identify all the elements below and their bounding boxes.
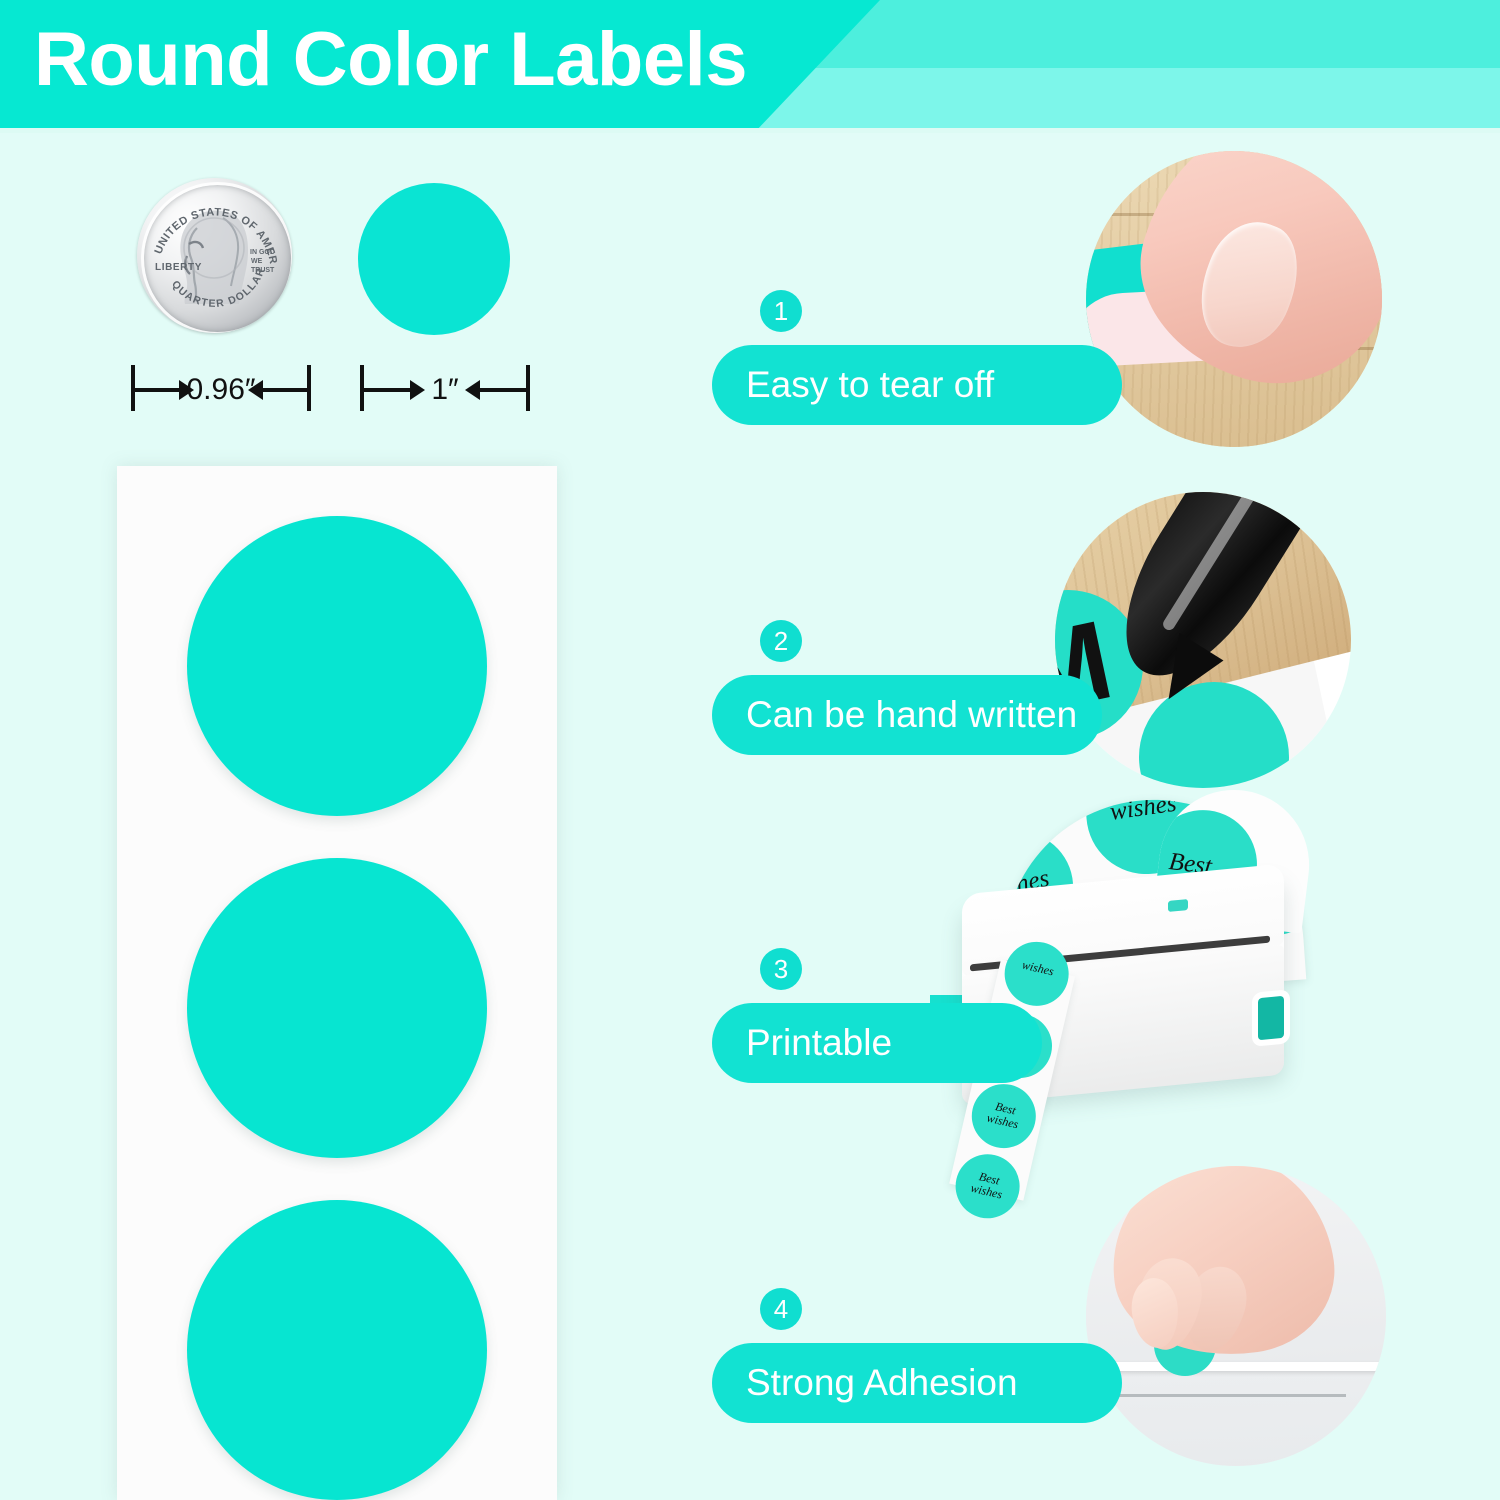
- infographic-canvas: Round Color Labels UNITED STATES OF AMER…: [0, 0, 1500, 1500]
- svg-text:LIBERTY: LIBERTY: [155, 262, 202, 273]
- feature-label-text: Easy to tear off: [712, 364, 994, 406]
- feature-label-pill: Easy to tear off: [712, 345, 1122, 425]
- feature-photo-tear-off: [1086, 151, 1382, 447]
- feature-photo-hand-written: M: [1055, 492, 1351, 788]
- surface-edge-shadow: [1086, 1394, 1346, 1397]
- page-title: Round Color Labels: [34, 10, 747, 110]
- surface-edge: [1086, 1362, 1386, 1371]
- feature-label-text: Printable: [712, 1022, 892, 1064]
- svg-text:IN GOD: IN GOD: [250, 249, 275, 256]
- sheet-label-dot: [187, 516, 487, 816]
- header-divider: [0, 128, 1500, 133]
- label-size-swatch: [358, 183, 510, 335]
- sheet-label-dot: [187, 858, 487, 1158]
- feature-number-badge: 1: [760, 290, 802, 332]
- header-banner: Round Color Labels: [0, 0, 1500, 132]
- us-quarter-coin: UNITED STATES OF AMERICA QUARTER DOLLAR …: [137, 178, 292, 333]
- feature-label-pill: Can be hand written: [712, 675, 1102, 755]
- feature-label-text: Strong Adhesion: [712, 1362, 1018, 1404]
- application-surface-lower: [1086, 1371, 1386, 1466]
- coin-dimension-indicator: 0.96″: [131, 365, 311, 415]
- printer-port-icon: [1258, 996, 1284, 1041]
- feature-label-pill: Strong Adhesion: [712, 1343, 1122, 1423]
- sheet-label-dot: [187, 1200, 487, 1500]
- coin-dimension-label: 0.96″: [131, 369, 311, 411]
- label-dimension-label: 1″: [360, 369, 530, 411]
- feature-number-badge: 2: [760, 620, 802, 662]
- feature-label-text: Can be hand written: [712, 694, 1077, 736]
- printer-status-led: [1168, 899, 1188, 912]
- feature-photo-strong-adhesion: [1086, 1166, 1386, 1466]
- svg-text:WE: WE: [251, 258, 263, 265]
- feature-number-badge: 4: [760, 1288, 802, 1330]
- feature-number-badge: 3: [760, 948, 802, 990]
- coin-engraving: UNITED STATES OF AMERICA QUARTER DOLLAR …: [137, 178, 292, 333]
- feature-label-pill: Printable: [712, 1003, 1042, 1083]
- label-dimension-indicator: 1″: [360, 365, 530, 415]
- label-sheet: [117, 466, 557, 1500]
- svg-text:TRUST: TRUST: [251, 267, 275, 274]
